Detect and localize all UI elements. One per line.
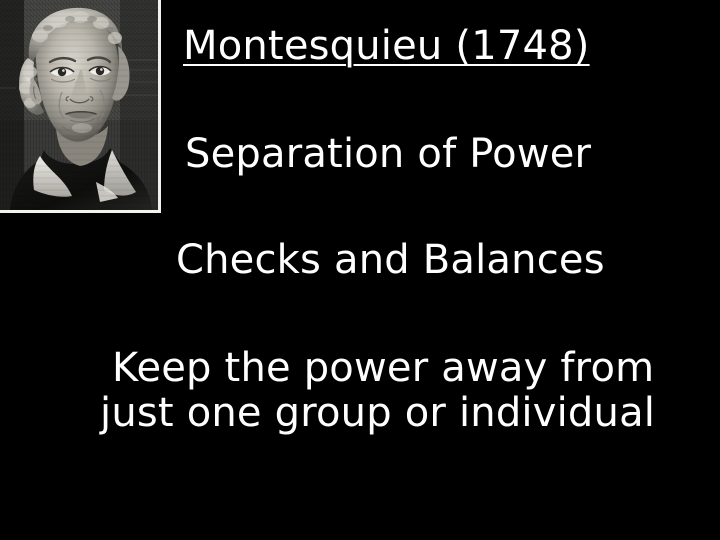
slide-line-keep-power-away: Keep the power away from (112, 344, 654, 392)
slide-title: Montesquieu (1748) (183, 22, 590, 70)
montesquieu-portrait (0, 0, 161, 213)
portrait-engraving-image (0, 0, 158, 210)
slide-line-separation-of-power: Separation of Power (185, 130, 591, 178)
slide-line-just-one-group: just one group or individual (100, 389, 655, 437)
slide-line-checks-and-balances: Checks and Balances (176, 236, 605, 284)
presentation-slide: Montesquieu (1748) Separation of Power C… (0, 0, 720, 540)
